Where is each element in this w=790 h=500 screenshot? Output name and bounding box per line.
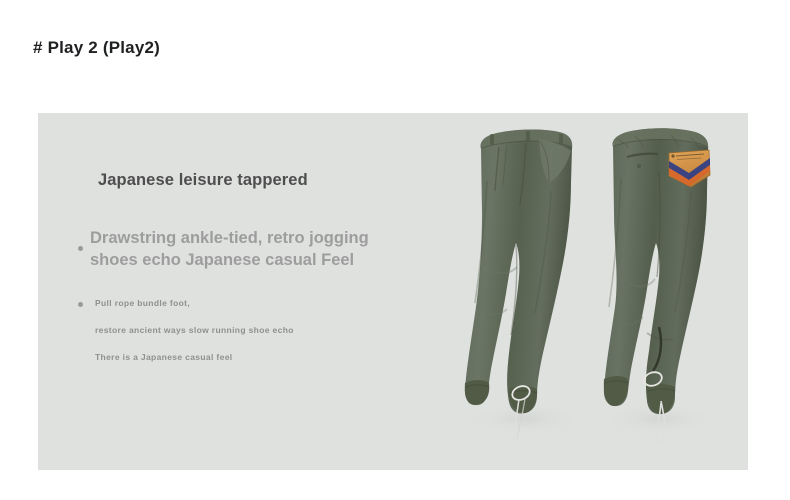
product-image-stage [463,121,748,466]
belt-loop [526,131,530,142]
ankle-cuff-left [465,380,489,405]
product-content-panel: Japanese leisure tappered Drawstring ank… [38,113,748,470]
belt-loop [490,134,494,145]
bullet-dot-icon [78,302,83,307]
fine-print-line: Pull rope bundle foot, [95,298,190,308]
pants-back-view [604,128,710,443]
marketing-copy-block: Japanese leisure tappered Drawstring ank… [78,171,428,379]
fine-print-line: restore ancient ways slow running shoe e… [95,325,294,335]
product-subhead: Drawstring ankle-tied, retro jogging sho… [90,228,408,272]
list-item: restore ancient ways slow running shoe e… [78,325,428,335]
pants-front-view [465,130,572,441]
product-photo-pair [463,121,748,466]
page-title: # Play 2 (Play2) [33,38,160,58]
product-subhead-row: Drawstring ankle-tied, retro jogging sho… [78,228,428,272]
list-item: Pull rope bundle foot, [78,298,428,308]
patch-logo-mark [671,154,674,157]
pocket-button [637,164,641,168]
product-fine-print-list: Pull rope bundle foot, restore ancient w… [78,298,428,363]
fine-print-line: There is a Japanese casual feel [95,352,232,362]
list-item: There is a Japanese casual feel [78,352,428,362]
bullet-dot-icon [78,246,83,251]
belt-loop [559,134,563,145]
product-headline: Japanese leisure tappered [98,171,428,190]
